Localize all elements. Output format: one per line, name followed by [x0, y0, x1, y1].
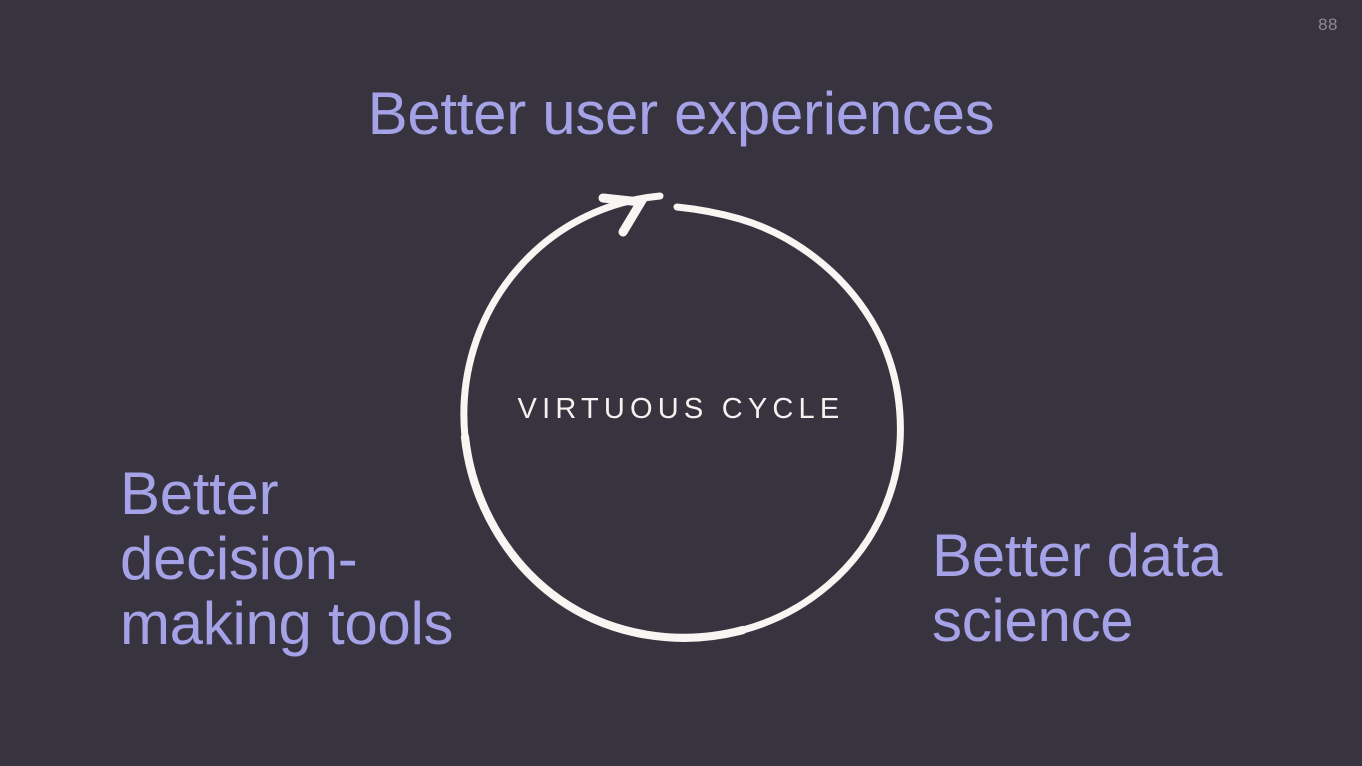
- page-number: 88: [1318, 16, 1338, 33]
- arrowhead-icon: [603, 198, 641, 232]
- cycle-node-label-left: Better decision- making tools: [120, 462, 500, 656]
- cycle-circle-icon: [455, 175, 907, 645]
- cycle-node-label-top: Better user experiences: [0, 82, 1362, 147]
- virtuous-cycle-diagram: [455, 175, 907, 645]
- cycle-node-label-right: Better data science: [932, 524, 1332, 654]
- slide-canvas: 88 Better user experiences VIRTUOUS CYCL…: [0, 0, 1362, 766]
